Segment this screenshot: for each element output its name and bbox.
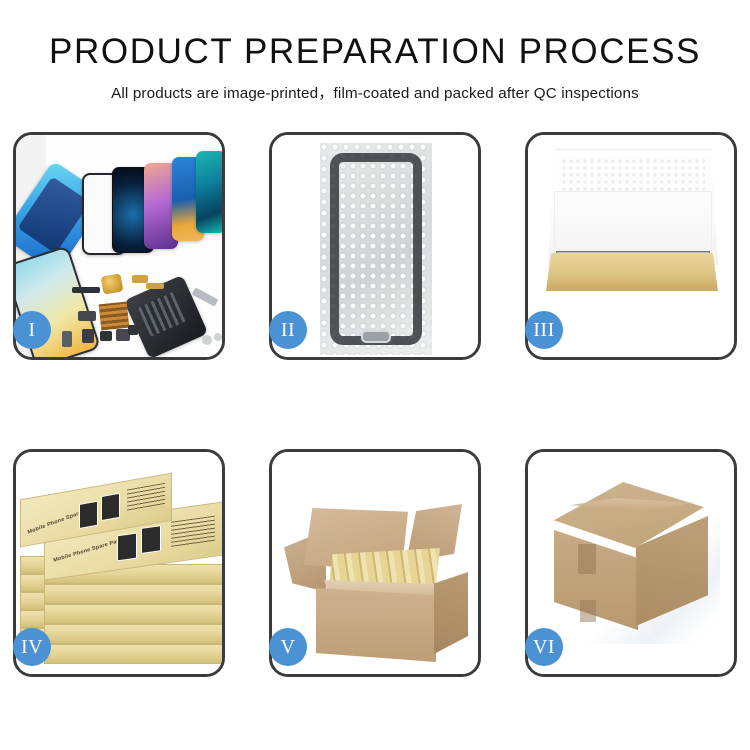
stacked-box-r3 bbox=[44, 604, 222, 624]
box-screen-image-1b bbox=[101, 493, 120, 521]
stacked-box-r4 bbox=[44, 624, 222, 644]
step-badge-5: V bbox=[269, 628, 307, 666]
process-steps-grid: I II III bbox=[0, 132, 750, 677]
steps-row-1: I II III bbox=[0, 132, 750, 360]
carton-seam-lower-icon bbox=[580, 600, 596, 622]
sim-tray-icon bbox=[82, 329, 94, 343]
kraft-inner-box-icon bbox=[546, 253, 718, 291]
box-screen-image-2a bbox=[117, 533, 137, 562]
box-screen-image-1a bbox=[79, 501, 98, 529]
step-badge-6: VI bbox=[525, 628, 563, 666]
vibration-motor-icon bbox=[101, 273, 124, 294]
step-badge-3: III bbox=[525, 311, 563, 349]
step-panel-2: II bbox=[269, 132, 481, 360]
page-title: PRODUCT PREPARATION PROCESS bbox=[0, 34, 750, 71]
step-badge-4: IV bbox=[13, 628, 51, 666]
step-panel-6: VI bbox=[525, 449, 737, 677]
screw-icon bbox=[202, 335, 212, 345]
flex-cable-icon bbox=[72, 287, 100, 293]
box-screen-image-2b bbox=[141, 525, 161, 554]
step-badge-1: I bbox=[13, 311, 51, 349]
box-spec-lines-2 bbox=[171, 516, 215, 548]
camera-module-icon bbox=[78, 311, 96, 321]
button-part-icon bbox=[128, 325, 138, 335]
carton-body-side-icon bbox=[434, 572, 468, 654]
box-label-text-2: Mobile Phone Spare Parts bbox=[53, 537, 124, 564]
sensor-icon bbox=[62, 331, 72, 347]
chip-grid-icon bbox=[99, 302, 130, 331]
step-panel-5: V bbox=[269, 449, 481, 677]
step-panel-3: III bbox=[525, 132, 737, 360]
page-subtitle: All products are image-printed，film-coat… bbox=[0, 81, 750, 103]
screw-icon-2 bbox=[214, 333, 222, 341]
steps-row-2: Mobile Phone Spare Parts Mobile Phone Sp… bbox=[0, 449, 750, 677]
phone-teal-icon bbox=[196, 151, 222, 233]
step-panel-1: I bbox=[13, 132, 225, 360]
product-preparation-page: PRODUCT PREPARATION PROCESS All products… bbox=[0, 0, 750, 750]
gold-contact-icon bbox=[132, 275, 148, 283]
stacked-box-r2 bbox=[44, 584, 222, 604]
page-header: PRODUCT PREPARATION PROCESS All products… bbox=[0, 0, 750, 103]
home-button-icon bbox=[361, 330, 391, 343]
gold-flex-icon bbox=[146, 283, 164, 289]
step-badge-2: II bbox=[269, 311, 307, 349]
carton-body-front-icon bbox=[316, 588, 436, 662]
speaker-icon bbox=[100, 331, 112, 341]
carton-seam-icon bbox=[578, 544, 596, 574]
box-spec-lines-1 bbox=[127, 483, 165, 514]
wrapped-screen-icon bbox=[330, 153, 422, 345]
foam-padding-icon bbox=[554, 191, 712, 259]
step-panel-4: Mobile Phone Spare Parts Mobile Phone Sp… bbox=[13, 449, 225, 677]
stacked-box-r5 bbox=[44, 644, 222, 664]
